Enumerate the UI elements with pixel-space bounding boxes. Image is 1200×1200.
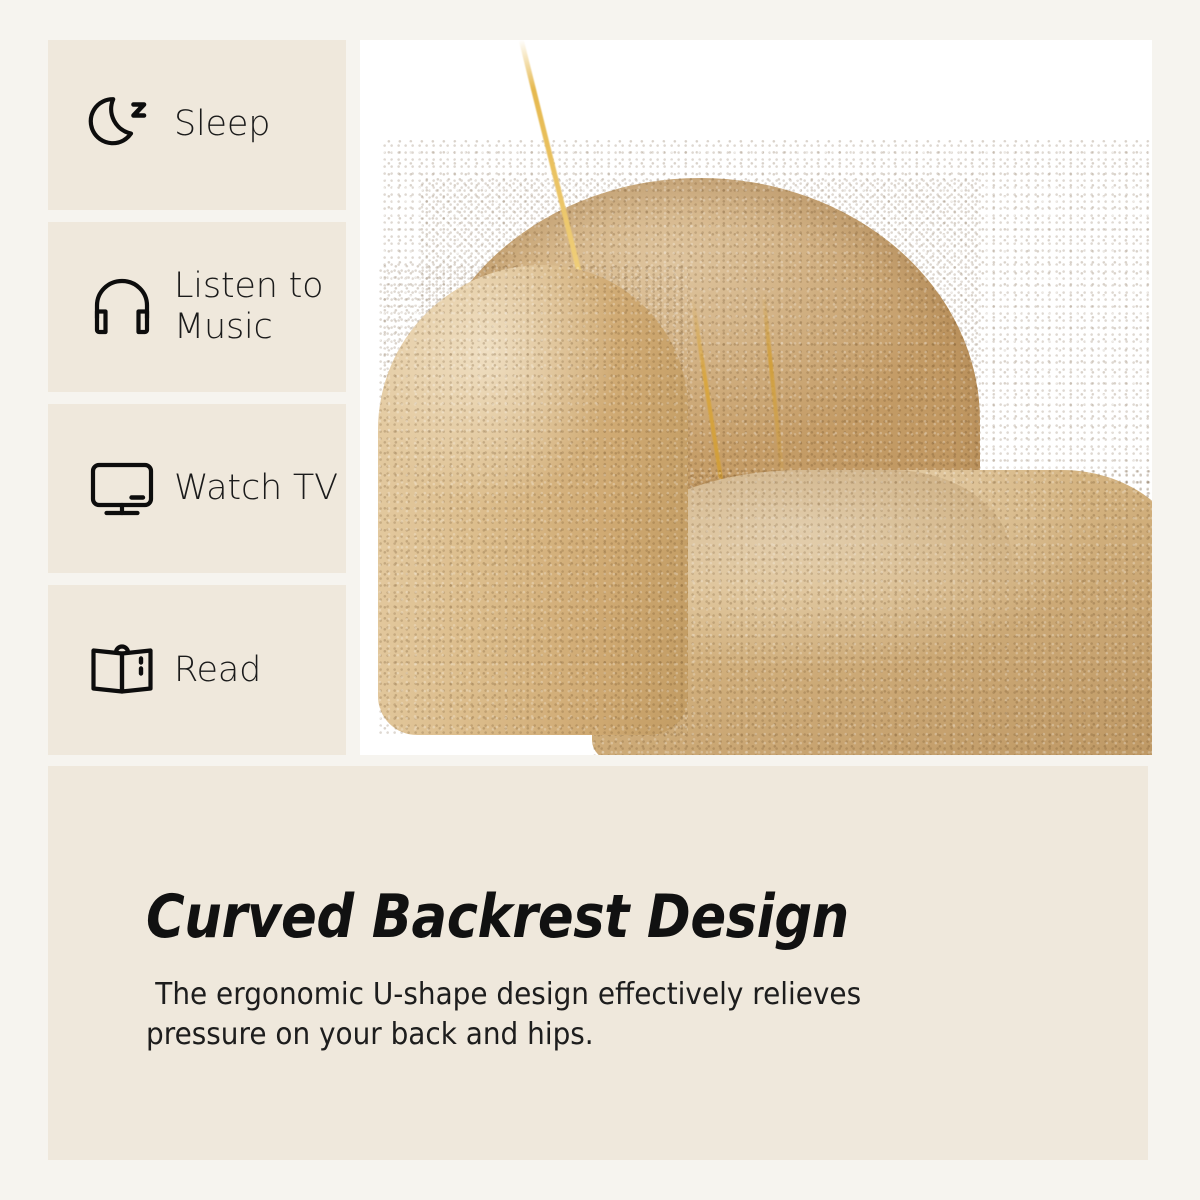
feature-label-read: Read (174, 650, 261, 691)
feature-card-listen-to-music[interactable]: Listen to Music (48, 222, 346, 392)
feature-label-sleep: Sleep (174, 104, 270, 145)
chair-armrest-shape (378, 265, 688, 735)
television-icon (86, 452, 158, 524)
feature-card-watch-tv[interactable]: Watch TV (48, 404, 346, 574)
boucle-texture-overlay (378, 265, 688, 735)
caption-title: Curved Backrest Design (146, 886, 966, 949)
feature-list: Sleep Listen to Music Wat (48, 40, 346, 755)
caption-body: The ergonomic U-shape design effectively… (146, 975, 988, 1054)
open-book-icon (86, 634, 158, 706)
feature-label-watch-tv: Watch TV (174, 468, 338, 509)
moon-zzz-icon (86, 89, 158, 161)
headphones-icon (86, 271, 158, 343)
feature-card-sleep[interactable]: Sleep (48, 40, 346, 210)
boucle-accent-chair-photo (360, 40, 1152, 755)
product-feature-graphic: Sleep Listen to Music Wat (0, 0, 1200, 1200)
feature-label-listen-to-music: Listen to Music (174, 266, 323, 348)
product-photo-panel (360, 40, 1152, 755)
feature-card-read[interactable]: Read (48, 585, 346, 755)
caption-panel: Curved Backrest Design The ergonomic U-s… (48, 766, 1148, 1160)
